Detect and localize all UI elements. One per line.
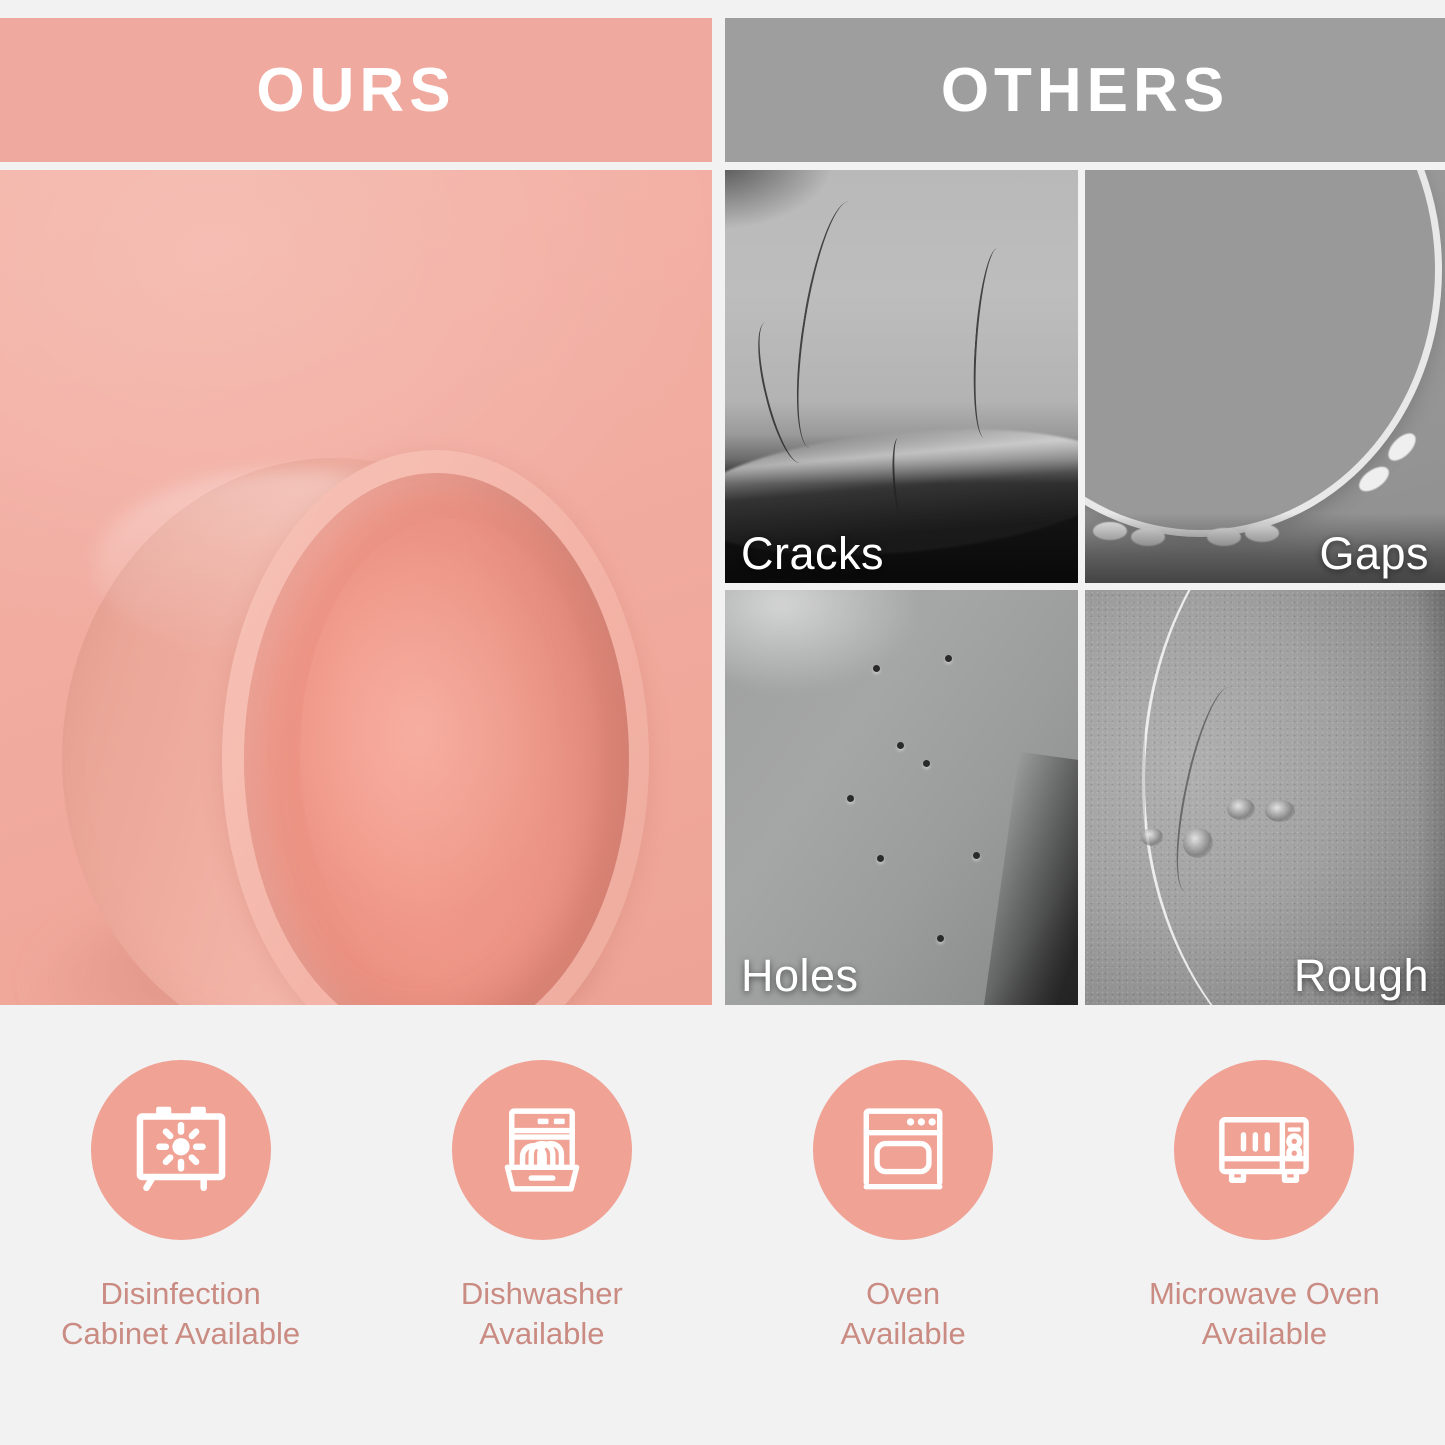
rough-blemish-icon <box>1141 828 1163 846</box>
ours-product-photo <box>0 170 712 1005</box>
feature-icon-circle <box>1174 1060 1354 1240</box>
defect-label-rough: Rough <box>1294 952 1429 999</box>
defect-cell-rough: Rough <box>1085 590 1445 1005</box>
feature-oven: Oven Available <box>723 1060 1084 1353</box>
defect-cell-holes: Holes <box>725 590 1078 1005</box>
defect-label-holes: Holes <box>741 952 859 999</box>
feature-dishwasher: Dishwasher Available <box>361 1060 722 1353</box>
feature-caption: Disinfection Cabinet Available <box>61 1274 300 1353</box>
cracks-corner-shadow <box>725 170 835 230</box>
feature-disinfection-cabinet: Disinfection Cabinet Available <box>0 1060 361 1353</box>
feature-microwave-oven: Microwave Oven Available <box>1084 1060 1445 1353</box>
feature-icon-circle <box>813 1060 993 1240</box>
disinfection-cabinet-icon <box>127 1096 235 1204</box>
pinhole-icon <box>923 760 930 767</box>
feature-caption: Oven Available <box>841 1274 966 1353</box>
defect-cell-cracks: Cracks <box>725 170 1078 583</box>
feature-icon-circle <box>91 1060 271 1240</box>
pinhole-icon <box>873 665 880 672</box>
defect-cell-gaps: Gaps <box>1085 170 1445 583</box>
oven-icon <box>849 1096 957 1204</box>
others-banner: OTHERS <box>725 18 1445 162</box>
others-banner-label: OTHERS <box>941 55 1229 126</box>
rough-blemish-icon <box>1227 798 1255 820</box>
others-defect-grid: Cracks Gaps Hole <box>725 170 1445 1005</box>
pinhole-icon <box>847 795 854 802</box>
pinhole-icon <box>937 935 944 942</box>
pinhole-icon <box>877 855 884 862</box>
ours-banner: OURS <box>0 18 712 162</box>
infographic-page: OURS OTHERS Cracks <box>0 0 1445 1445</box>
pinhole-icon <box>973 852 980 859</box>
feature-icon-circle <box>452 1060 632 1240</box>
ours-banner-label: OURS <box>256 55 455 126</box>
defect-label-gaps: Gaps <box>1319 530 1429 577</box>
feature-caption: Microwave Oven Available <box>1149 1274 1380 1353</box>
defect-label-cracks: Cracks <box>741 530 884 577</box>
dishwasher-icon <box>488 1096 596 1204</box>
rough-blemish-icon <box>1265 800 1295 822</box>
feature-caption: Dishwasher Available <box>461 1274 623 1353</box>
microwave-oven-icon <box>1210 1096 1318 1204</box>
pinhole-icon <box>945 655 952 662</box>
rough-blemish-icon <box>1183 828 1213 858</box>
feature-strip: Disinfection Cabinet Available <box>0 1060 1445 1353</box>
